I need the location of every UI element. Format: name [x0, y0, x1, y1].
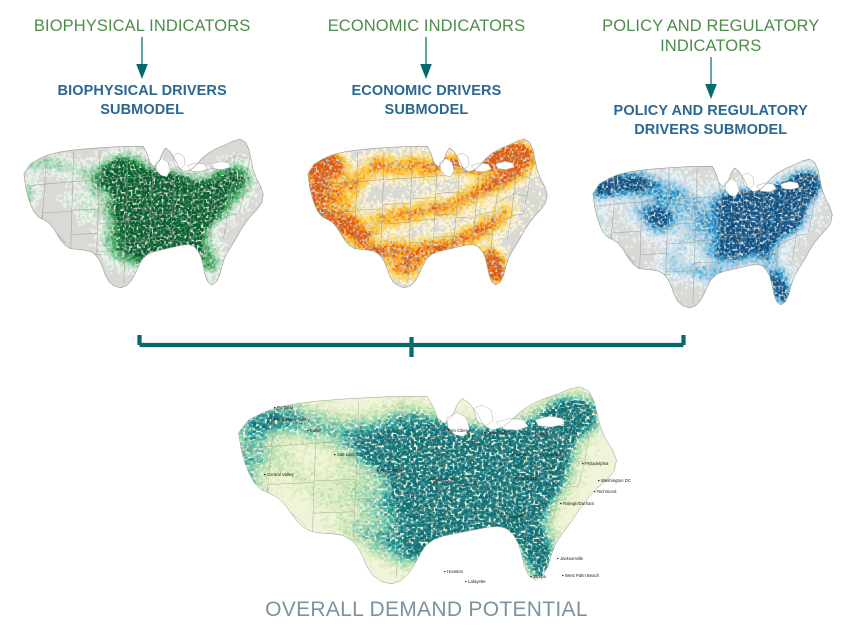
biophysical-drivers-map	[9, 128, 275, 300]
city-dot	[539, 454, 540, 455]
city-label: Detroit	[535, 431, 548, 436]
overall-demand-potential-caption: OVERALL DEMAND POTENTIAL	[0, 598, 853, 622]
city-dot	[515, 478, 516, 479]
down-arrow-icon	[418, 36, 434, 82]
column-policy: POLICY AND REGULATORY INDICATORS POLICY …	[569, 0, 853, 320]
city-label: Boise	[310, 428, 321, 433]
city-label: Raleigh/Durham	[563, 501, 594, 506]
city-label: Washington DC	[601, 478, 631, 483]
city-label: Philadelphia	[585, 461, 609, 466]
city-dot	[444, 571, 445, 572]
city-label: Green Bay	[487, 430, 508, 435]
city-dot	[530, 576, 531, 577]
city-label: Cleveland	[542, 452, 562, 457]
column-biophysical: BIOPHYSICAL INDICATORS BIOPHYSICAL DRIVE…	[0, 0, 284, 320]
column-economic: ECONOMIC INDICATORS ECONOMIC DRIVERS SUB…	[284, 0, 568, 320]
city-label: Toledo	[515, 452, 528, 457]
city-label: Twin Cities	[447, 428, 468, 433]
city-label: Central Valley	[267, 472, 294, 477]
city-label: Willamette Valley	[277, 417, 310, 422]
submodel-columns: BIOPHYSICAL INDICATORS BIOPHYSICAL DRIVE…	[0, 0, 853, 320]
city-dot	[504, 516, 505, 517]
indicator-title-policy: POLICY AND REGULATORY INDICATORS	[602, 16, 819, 56]
city-dot	[562, 575, 563, 576]
city-label: Tampa	[533, 574, 547, 579]
city-dot	[512, 454, 513, 455]
down-arrow-icon	[134, 36, 150, 82]
city-dot	[560, 503, 561, 504]
city-dot	[274, 419, 275, 420]
city-dot	[465, 581, 466, 582]
city-label: Lafayette	[468, 579, 486, 584]
submodel-title-biophysical: BIOPHYSICAL DRIVERS SUBMODEL	[58, 82, 227, 120]
city-label: Kansas City	[432, 477, 456, 482]
city-dot	[377, 470, 378, 471]
city-label: Jacksonville	[560, 556, 584, 561]
city-dot	[532, 433, 533, 434]
diagram-root: BIOPHYSICAL INDICATORS BIOPHYSICAL DRIVE…	[0, 0, 853, 640]
city-label: Salt Lake City	[337, 452, 364, 457]
combining-bracket	[137, 333, 686, 361]
city-dot	[484, 432, 485, 433]
down-arrow-icon	[703, 56, 719, 102]
economic-drivers-map	[293, 128, 559, 300]
overall-demand-potential-map: PortlandWillamette ValleyBoiseSalt Lake …	[215, 372, 635, 600]
city-label: Fort Collins	[380, 468, 402, 473]
city-dot	[557, 558, 558, 559]
policy-regulatory-drivers-map	[578, 148, 844, 320]
city-label: Richmond	[597, 489, 617, 494]
indicator-title-economic: ECONOMIC INDICATORS	[328, 16, 525, 36]
city-label: West Palm Beach	[565, 573, 600, 578]
city-dot	[444, 430, 445, 431]
city-dot	[307, 430, 308, 431]
submodel-title-economic: ECONOMIC DRIVERS SUBMODEL	[352, 82, 502, 120]
city-label: Cincinnati	[518, 476, 537, 481]
city-dot	[264, 474, 265, 475]
city-label: Portland	[277, 405, 294, 410]
city-dot	[429, 479, 430, 480]
city-label: Huntsville	[507, 514, 526, 519]
city-dot	[274, 407, 275, 408]
city-dot	[582, 463, 583, 464]
city-dot	[598, 480, 599, 481]
city-dot	[594, 491, 595, 492]
city-label: Houston	[447, 569, 464, 574]
city-dot	[334, 454, 335, 455]
submodel-title-policy: POLICY AND REGULATORY DRIVERS SUBMODEL	[614, 102, 808, 140]
indicator-title-biophysical: BIOPHYSICAL INDICATORS	[34, 16, 250, 36]
